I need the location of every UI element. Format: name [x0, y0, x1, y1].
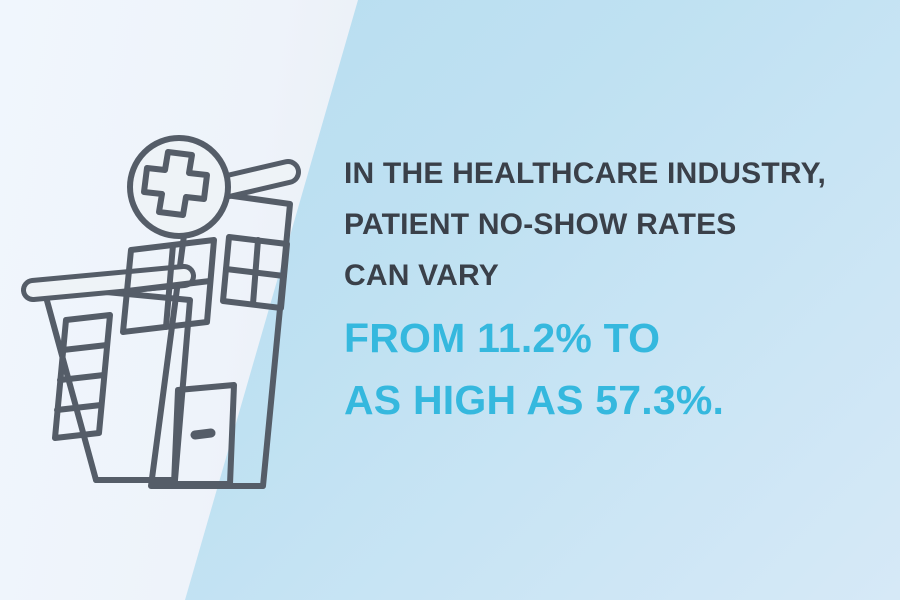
medical-cross-in-circle [130, 138, 228, 236]
text-block: IN THE HEALTHCARE INDUSTRY, PATIENT NO-S… [344, 148, 864, 431]
hospital-building-icon [18, 128, 318, 500]
headline-line-2: PATIENT NO-SHOW RATES [344, 199, 864, 250]
statistic-line-1: FROM 11.2% TO [344, 307, 864, 369]
infographic-canvas: IN THE HEALTHCARE INDUSTRY, PATIENT NO-S… [0, 0, 900, 600]
door-handle [195, 433, 211, 435]
headline-line-3: CAN VARY [344, 250, 864, 301]
headline-line-1: IN THE HEALTHCARE INDUSTRY, [344, 148, 864, 199]
statistic-block: FROM 11.2% TO AS HIGH AS 57.3%. [344, 307, 864, 431]
window-grid-right [223, 237, 287, 308]
statistic-line-2: AS HIGH AS 57.3%. [344, 369, 864, 431]
